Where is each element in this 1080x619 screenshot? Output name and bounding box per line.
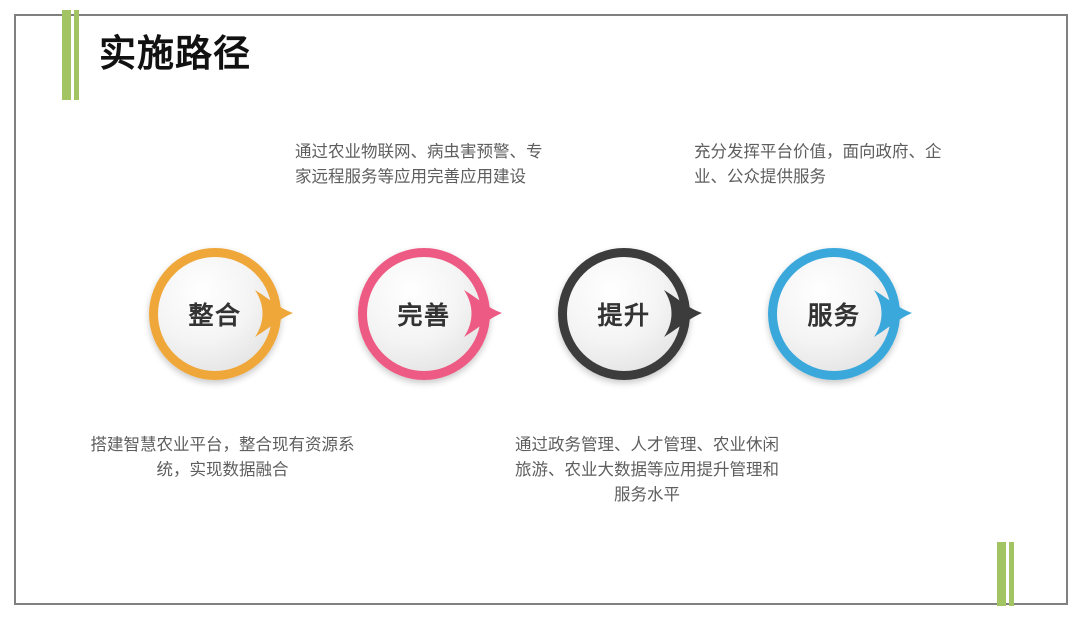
accent-bar-thick xyxy=(62,10,71,100)
caption-bottom-right: 通过政务管理、人才管理、农业休闲旅游、农业大数据等应用提升管理和服务水平 xyxy=(512,433,782,508)
step-label-1: 整合 xyxy=(188,296,241,332)
step-circle-3[interactable]: 提升 xyxy=(558,248,690,380)
step-label-3: 提升 xyxy=(597,296,650,332)
caption-top-left: 通过农业物联网、病虫害预警、专家远程服务等应用完善应用建设 xyxy=(295,140,545,190)
accent-bar-thin xyxy=(74,10,79,100)
page-title: 实施路径 xyxy=(99,34,251,75)
caption-bottom-left: 搭建智慧农业平台，整合现有资源系统，实现数据融合 xyxy=(90,433,355,483)
step-label-2: 完善 xyxy=(397,296,450,332)
step-ring-2: 完善 xyxy=(358,248,490,380)
step-ring-1: 整合 xyxy=(149,248,281,380)
green-accent-bar-bottom xyxy=(997,542,1014,606)
green-accent-bar-top xyxy=(62,10,79,100)
step-circle-4[interactable]: 服务 xyxy=(768,248,900,380)
step-ring-4: 服务 xyxy=(768,248,900,380)
step-circle-1[interactable]: 整合 xyxy=(149,248,281,380)
slide-canvas: 实施路径 通过农业物联网、病虫害预警、专家远程服务等应用完善应用建设 充分发挥平… xyxy=(0,0,1080,619)
step-label-4: 服务 xyxy=(807,296,860,332)
accent-bar-thick xyxy=(997,542,1006,606)
step-ring-3: 提升 xyxy=(558,248,690,380)
caption-top-right: 充分发挥平台价值，面向政府、企业、公众提供服务 xyxy=(694,140,944,190)
accent-bar-thin xyxy=(1009,542,1014,606)
step-circle-2[interactable]: 完善 xyxy=(358,248,490,380)
